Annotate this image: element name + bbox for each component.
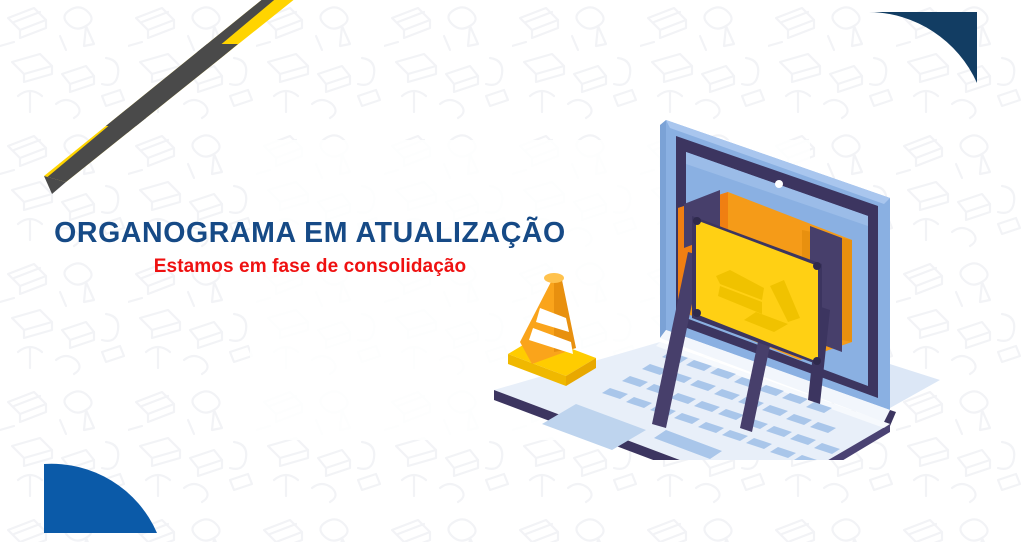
quarter-circle-bottom-left <box>44 464 157 533</box>
sign-bolt <box>693 309 701 317</box>
webcam-dot <box>775 180 783 188</box>
sign-bolt <box>813 357 821 365</box>
page-subtitle: Estamos em fase de consolidação <box>0 256 620 278</box>
sign-bolt <box>813 262 821 270</box>
banner-text-block: ORGANOGRAMA EM ATUALIZAÇÃO Estamos em fa… <box>0 218 620 278</box>
traffic-cone <box>508 273 596 386</box>
page-title: ORGANOGRAMA EM ATUALIZAÇÃO <box>0 218 620 250</box>
quarter-circle-top-right <box>869 12 977 83</box>
under-construction-banner: ORGANOGRAMA EM ATUALIZAÇÃO Estamos em fa… <box>0 0 1024 542</box>
sign-bolt <box>693 217 701 225</box>
